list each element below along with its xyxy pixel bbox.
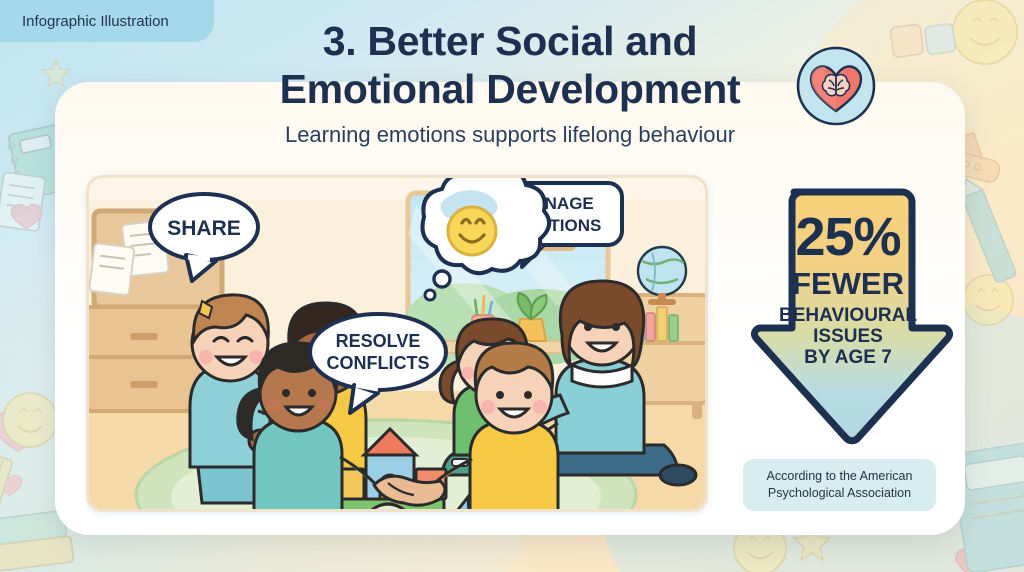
stat-arrow: [742, 186, 954, 448]
source-citation: According to the American Psychological …: [743, 459, 936, 511]
svg-text:SHARE: SHARE: [167, 217, 241, 240]
heart-brain-icon: [795, 45, 877, 127]
infographic-tag: Infographic Illustration: [0, 0, 214, 42]
source-line1: According to the American: [767, 468, 913, 485]
infographic-tag-label: Infographic Illustration: [22, 13, 169, 30]
svg-text:CONFLICTS: CONFLICTS: [327, 353, 430, 373]
source-line2: Psychological Association: [768, 485, 911, 502]
classroom-illustration: SHARE RESOLVE CONFLICTS MANAGE EMOTIONS: [86, 175, 708, 512]
svg-text:RESOLVE: RESOLVE: [336, 331, 421, 351]
